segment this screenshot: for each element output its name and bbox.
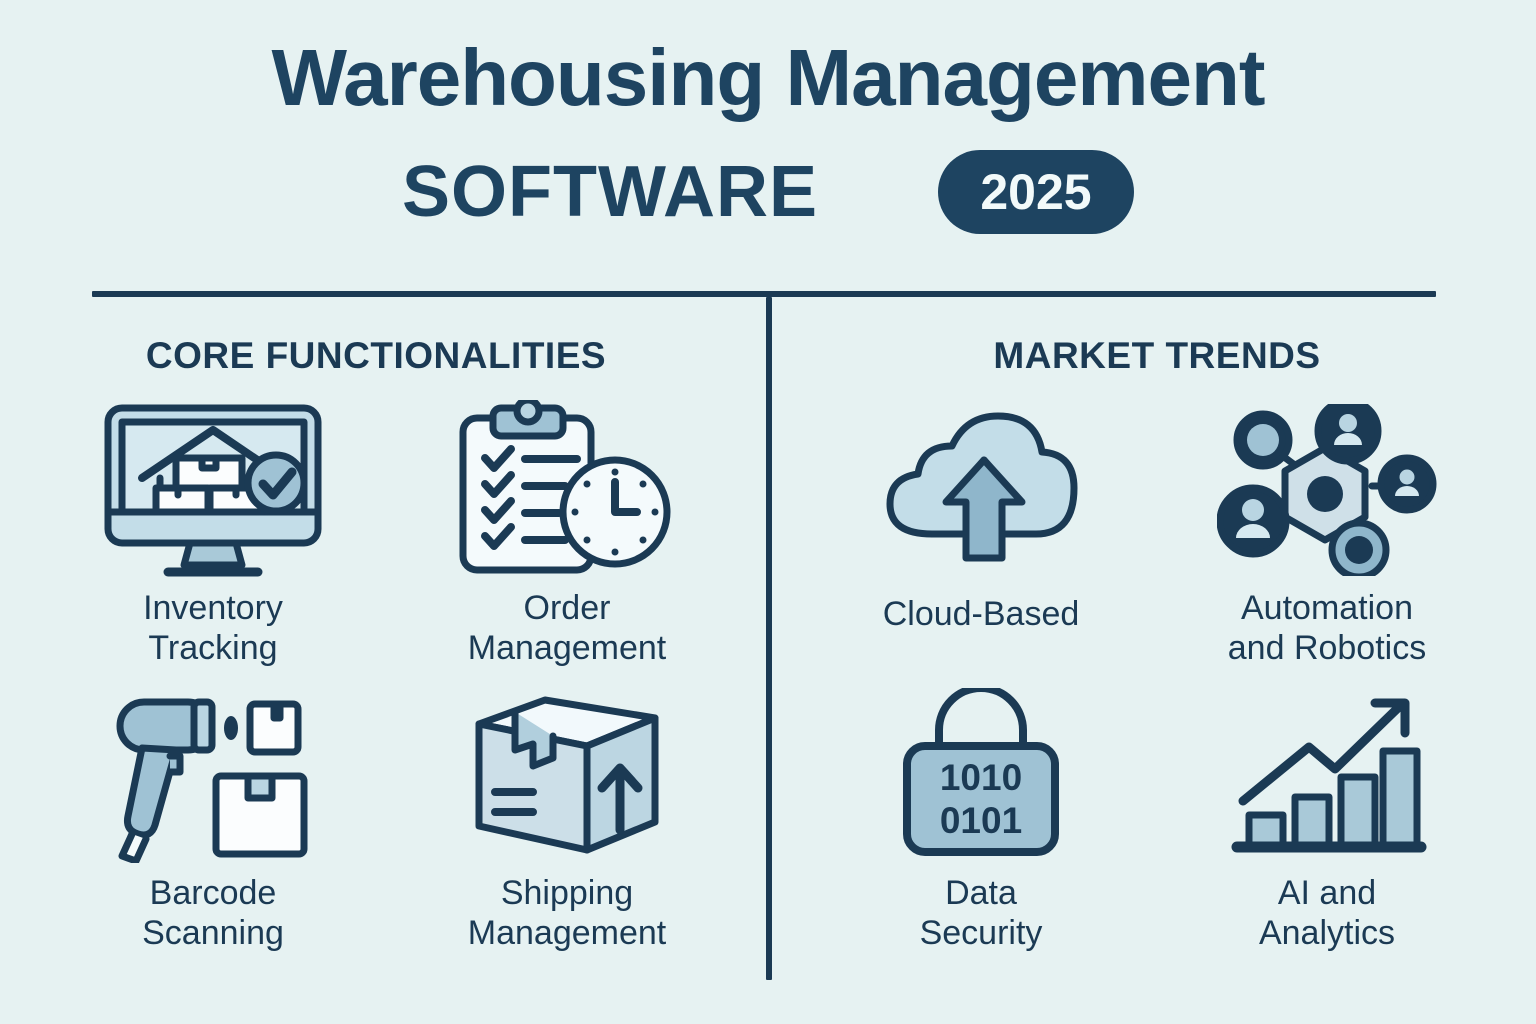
trend-label: Automation and Robotics bbox=[1228, 589, 1426, 669]
column-market-trends: MARKET TRENDS Cloud-Based bbox=[768, 297, 1536, 1024]
infographic-page: Warehousing Management SOFTWARE 2025 COR… bbox=[0, 0, 1536, 1024]
padlock-binary-row-1: 1010 bbox=[940, 757, 1022, 798]
feature-order-management: Order Management bbox=[390, 395, 744, 680]
feature-label: Shipping Management bbox=[468, 874, 666, 954]
title-row-secondary: SOFTWARE 2025 bbox=[0, 150, 1536, 234]
feature-barcode-scanning: Barcode Scanning bbox=[36, 680, 390, 965]
page-title-line-1: Warehousing Management bbox=[0, 38, 1536, 118]
feature-label: Inventory Tracking bbox=[143, 589, 283, 669]
left-icon-grid: Inventory Tracking bbox=[0, 395, 768, 965]
column-heading-left: CORE FUNCTIONALITIES bbox=[0, 335, 768, 377]
trend-label: Data Security bbox=[920, 874, 1043, 954]
trend-automation-robotics: Automation and Robotics bbox=[1154, 395, 1500, 680]
content-columns: CORE FUNCTIONALITIES bbox=[0, 297, 1536, 1024]
padlock-binary-row-2: 0101 bbox=[940, 800, 1022, 841]
monitor-warehouse-check-icon bbox=[36, 395, 390, 585]
feature-label: Barcode Scanning bbox=[142, 874, 284, 954]
column-core-functionalities: CORE FUNCTIONALITIES bbox=[0, 297, 768, 1024]
cloud-upload-arrow-icon bbox=[808, 395, 1154, 585]
feature-label: Order Management bbox=[468, 589, 666, 669]
column-heading-right: MARKET TRENDS bbox=[768, 335, 1536, 377]
year-badge: 2025 bbox=[938, 150, 1134, 234]
trend-label: Cloud-Based bbox=[883, 595, 1080, 635]
network-nodes-hub-icon bbox=[1154, 395, 1500, 585]
feature-inventory-tracking: Inventory Tracking bbox=[36, 395, 390, 680]
page-title-line-2: SOFTWARE bbox=[402, 156, 818, 228]
trend-data-security: 1010 0101 Data Security bbox=[808, 680, 1154, 965]
feature-shipping-management: Shipping Management bbox=[390, 680, 744, 965]
padlock-binary-icon: 1010 0101 bbox=[808, 680, 1154, 870]
barcode-scanner-boxes-icon bbox=[36, 680, 390, 870]
header: Warehousing Management SOFTWARE 2025 bbox=[0, 0, 1536, 296]
clipboard-checklist-clock-icon bbox=[390, 395, 744, 585]
shipping-box-arrow-up-icon bbox=[390, 680, 744, 870]
trend-cloud-based: Cloud-Based bbox=[808, 395, 1154, 680]
trend-label: AI and Analytics bbox=[1259, 874, 1395, 954]
trend-ai-analytics: AI and Analytics bbox=[1154, 680, 1500, 965]
right-icon-grid: Cloud-Based bbox=[768, 395, 1536, 965]
bar-chart-growth-arrow-icon bbox=[1154, 680, 1500, 870]
